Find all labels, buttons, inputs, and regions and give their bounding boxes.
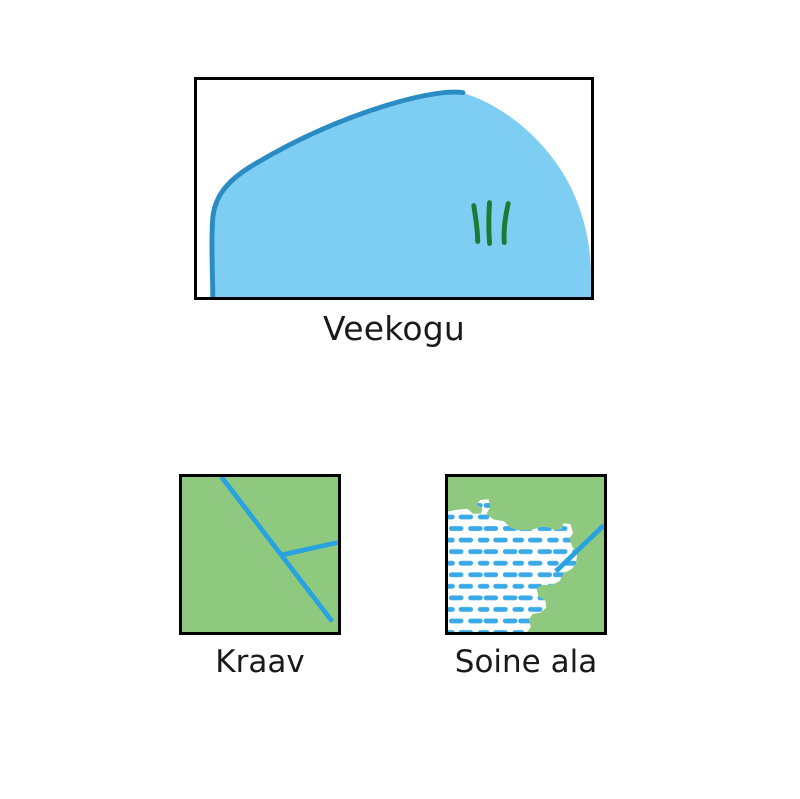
legend-entry-soine-ala: Soine ala xyxy=(445,474,607,635)
legend-label-kraav: Kraav xyxy=(179,644,341,680)
water-polygon xyxy=(212,92,591,297)
legend-entry-kraav: Kraav xyxy=(179,474,341,635)
legend-label-veekogu: Veekogu xyxy=(194,309,594,348)
legend-entry-veekogu: Veekogu xyxy=(194,77,594,300)
marsh-swatch xyxy=(445,474,607,635)
reed-mark-2 xyxy=(489,203,490,244)
legend-label-soine-ala: Soine ala xyxy=(445,644,607,680)
map-legend: Veekogu Kraav xyxy=(0,0,800,799)
land-background xyxy=(182,477,338,632)
water-body-swatch xyxy=(194,77,594,300)
ditch-swatch xyxy=(179,474,341,635)
